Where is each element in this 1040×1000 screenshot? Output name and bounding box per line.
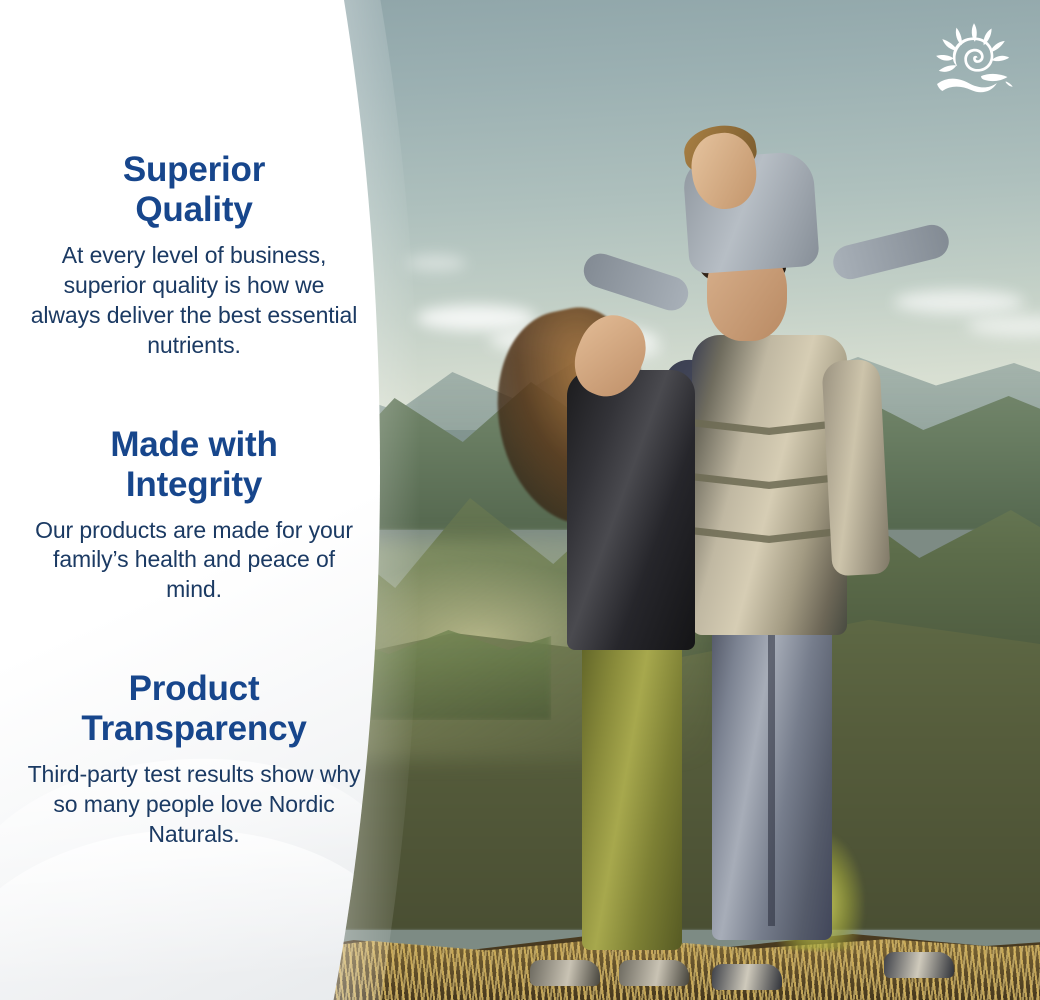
heading-line: Quality [135, 190, 252, 229]
vest-chevron [692, 473, 847, 489]
heading-line: Integrity [126, 465, 262, 504]
value-prop-body: Our products are made for your family’s … [26, 516, 362, 606]
man-shoe [712, 964, 782, 990]
woman-shoe [530, 960, 600, 986]
woman-legs [582, 620, 682, 950]
sun-wave-logo-icon [928, 18, 1020, 106]
value-prop-superior-quality: Superior Quality At every level of busin… [26, 150, 362, 360]
value-prop-heading: Made with Integrity [26, 425, 362, 505]
value-prop-heading: Product Transparency [26, 669, 362, 749]
woman-shoe [619, 960, 689, 986]
value-prop-product-transparency: Product Transparency Third-party test re… [26, 669, 362, 849]
value-prop-body: At every level of business, superior qua… [26, 241, 362, 361]
brand-values-poster: Superior Quality At every level of busin… [0, 0, 1040, 1000]
vest-chevron [692, 419, 847, 435]
heading-line: Transparency [81, 709, 306, 748]
child-left-arm [580, 249, 693, 315]
value-prop-heading: Superior Quality [26, 150, 362, 230]
value-prop-body: Third-party test results show why so man… [26, 760, 362, 850]
man-right-arm [821, 359, 890, 577]
child-right-arm [830, 221, 953, 283]
value-prop-made-with-integrity: Made with Integrity Our products are mad… [26, 425, 362, 605]
vest-chevron [692, 527, 847, 543]
heading-line: Product [129, 669, 260, 708]
man-shoe [884, 952, 954, 978]
heading-line: Superior [123, 150, 265, 189]
heading-line: Made with [110, 425, 277, 464]
man-legs [712, 600, 832, 940]
woman-leather-jacket [567, 370, 695, 650]
value-props-list: Superior Quality At every level of busin… [0, 0, 400, 1000]
